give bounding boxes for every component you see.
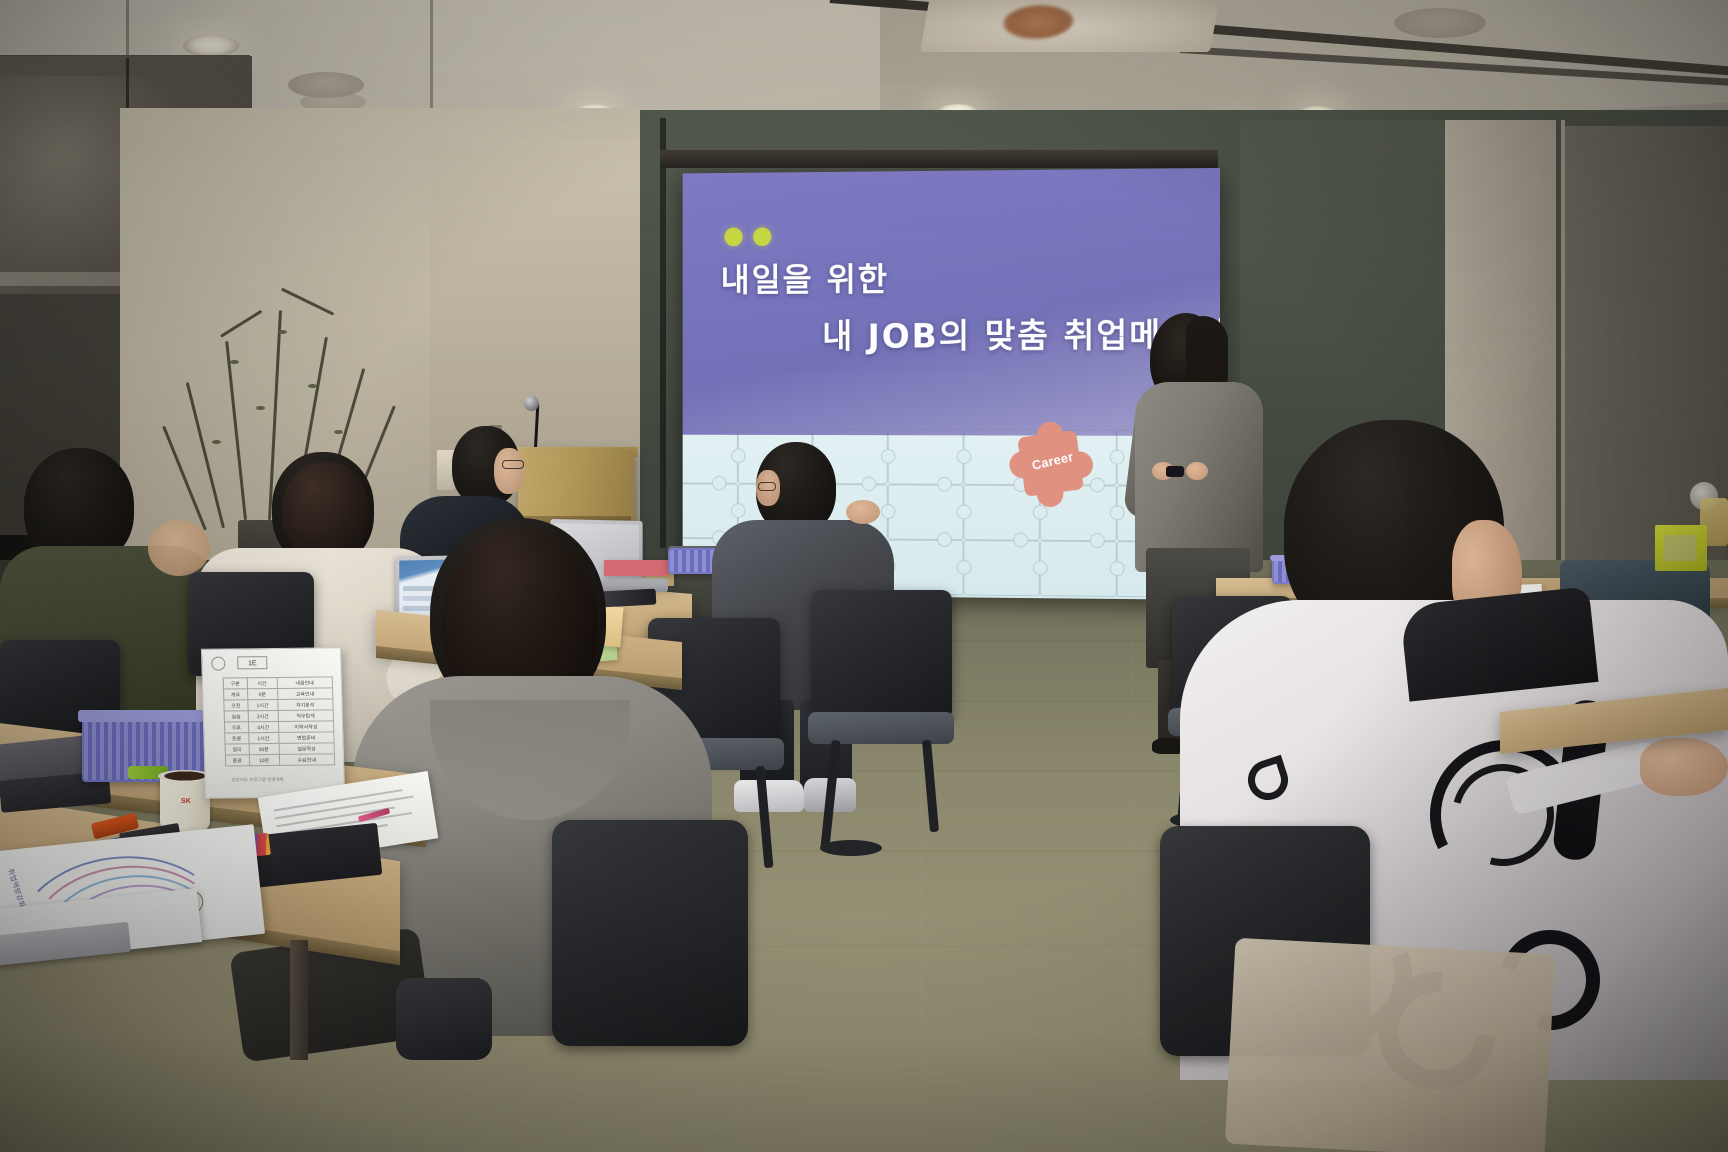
skylight-panel <box>920 0 1220 52</box>
ceiling-speaker <box>1394 8 1486 38</box>
ceiling-seam <box>126 0 129 60</box>
handout-cell: 실습 <box>224 711 248 722</box>
handout-cell: 이력서작성 <box>278 721 334 733</box>
handout-row: 종료10분수료안내 <box>225 754 334 766</box>
photo-scene: Career 김 현 내일을 위한 내 JOB의 맞춤 취업메이킹 <box>0 0 1728 1152</box>
chair-foot <box>820 840 882 856</box>
jacket-collar <box>1400 586 1599 701</box>
attendee-hand <box>148 520 210 576</box>
carpet-seam <box>1130 640 1132 1150</box>
handout-cell: 10분 <box>249 754 279 765</box>
eyeglasses-icon <box>502 460 524 469</box>
handout-footer: 진로지도 프로그램 운영계획 <box>232 777 284 784</box>
bullet-dot-icon <box>725 228 743 247</box>
handout-cell: 정리 <box>225 744 249 755</box>
handout-document[interactable]: 1E 구분시간내용안내개요0분교육안내오전1시간자기분석실습2시간직무탐색오후4… <box>201 647 345 798</box>
presenter-hand-right <box>1186 462 1208 480</box>
slide-upper-panel <box>683 168 1220 436</box>
handout-cell: 2시간 <box>248 710 278 721</box>
career-puzzle-piece: Career <box>1015 427 1088 501</box>
wall-seam <box>1556 120 1561 580</box>
handout-cell: 1시간 <box>248 732 278 743</box>
handout-cell: 4시간 <box>248 721 278 732</box>
attendee-face <box>494 448 524 494</box>
handout-title-badge: 1E <box>237 656 267 669</box>
handout-cell: 토론 <box>225 733 249 744</box>
screen-housing <box>660 150 1218 168</box>
handout-cell: 오전 <box>224 700 248 711</box>
table-leg <box>290 940 308 1060</box>
handout-cell: 30분 <box>249 743 279 754</box>
handout-cell: 직무탐색 <box>278 710 334 722</box>
keyboard[interactable] <box>600 589 657 608</box>
handout-cell: 교육안내 <box>277 688 333 700</box>
chair-armrest[interactable] <box>396 978 492 1060</box>
chair-back[interactable] <box>812 590 952 720</box>
chair-seat[interactable] <box>808 712 954 744</box>
ceiling-seam <box>430 0 433 118</box>
attendee-hand <box>1640 738 1728 796</box>
bullet-dot-icon <box>753 227 771 246</box>
handout-cell: 구분 <box>223 678 247 689</box>
green-product-box <box>1655 525 1707 571</box>
handout-cell: 0분 <box>247 688 277 699</box>
colored-paper[interactable] <box>604 560 668 576</box>
handout-cell: 시간 <box>247 677 277 688</box>
skylight-reflection <box>1000 5 1076 39</box>
draped-coat <box>1225 938 1555 1152</box>
handout-cell: 설문작성 <box>279 743 335 755</box>
handout-cell: 종료 <box>225 755 249 766</box>
handout-cell: 자기분석 <box>277 699 333 711</box>
ceiling-downlight <box>183 35 239 57</box>
slide-heading-line1: 내일을 위한 <box>721 253 889 301</box>
microphone-icon <box>524 396 539 411</box>
attendee-hair <box>282 462 368 558</box>
wall-divider <box>660 118 666 548</box>
slide-bullet-dots <box>725 227 772 246</box>
chair-back[interactable] <box>552 820 748 1046</box>
handout-cell: 개요 <box>224 689 248 700</box>
presentation-clicker[interactable] <box>1166 466 1184 477</box>
handout-cell: 면접준비 <box>278 732 334 744</box>
handout-cell: 오후 <box>224 722 248 733</box>
org-logo-icon <box>211 657 225 671</box>
handout-cell: 1시간 <box>247 699 277 710</box>
handout-cell: 내용안내 <box>277 677 333 689</box>
handout-table: 구분시간내용안내개요0분교육안내오전1시간자기분석실습2시간직무탐색오후4시간이… <box>223 676 335 766</box>
eyeglasses-icon <box>758 482 776 491</box>
attendee-shoe <box>734 780 804 812</box>
handout-cell: 수료안내 <box>279 754 335 766</box>
cup-brand-logo: SK <box>166 798 206 805</box>
attendee-hand <box>846 500 880 524</box>
